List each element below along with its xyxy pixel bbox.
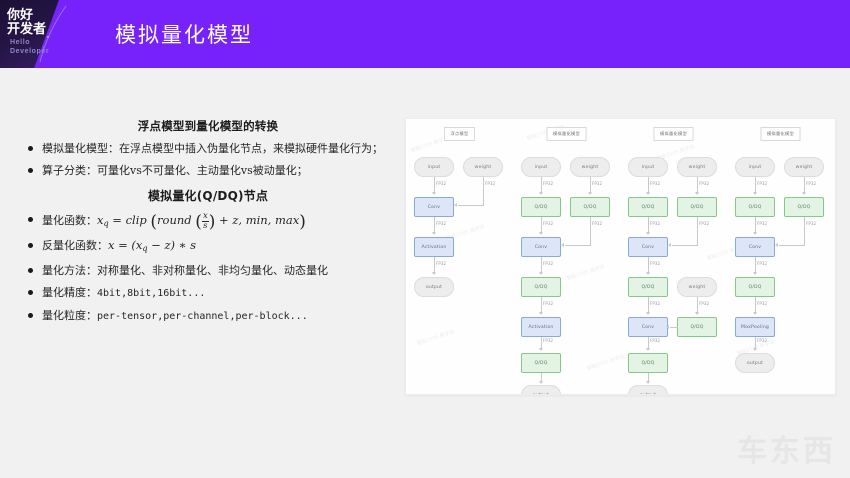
edge-label: FP32 <box>650 338 660 343</box>
edge-label: FP32 <box>543 221 553 226</box>
edge-label: FP32 <box>543 181 553 186</box>
edge-label: FP32 <box>485 181 495 186</box>
logo-line-2: 开发者 <box>7 22 46 36</box>
edge-label: FP32 <box>592 181 602 186</box>
node-conv: Conv <box>414 197 454 217</box>
edge-arrow <box>753 232 757 235</box>
node-qdq: Q/DQ <box>521 277 561 297</box>
node-weight: weight <box>677 157 717 177</box>
section-2-title: 模拟量化(Q/DQ)节点 <box>22 187 394 204</box>
bullet-label: 量化粒度： <box>42 309 97 322</box>
quantization-flow-diagram: 智能2195 新学说 智能2195 新学说 智能2195 新学说 智能2195 … <box>405 118 836 395</box>
edge-label: FP32 <box>650 261 660 266</box>
node-activation: Activation <box>521 317 561 337</box>
list-item: 量化精度：4bit,8bit,16bit... <box>22 285 394 301</box>
edge-label: FP32 <box>543 301 553 306</box>
edge-arrow <box>753 312 757 315</box>
bullet-text: 对称量化、非对称量化、非均匀量化、动态量化 <box>97 264 328 277</box>
edge-arrow <box>539 381 543 384</box>
node-output: output <box>628 385 668 395</box>
edge-label: FP32 <box>436 181 446 186</box>
logo-line-1: 你好 <box>7 8 46 22</box>
node-conv: Conv <box>628 317 668 337</box>
logo-text-cn: 你好 开发者 <box>7 8 46 36</box>
node-weight: weight <box>570 157 610 177</box>
edge-arrow <box>646 272 650 275</box>
edge-label: FP32 <box>699 301 709 306</box>
logo-text-en: Hello Developer <box>10 38 49 56</box>
edge-line <box>672 245 698 246</box>
edge-line <box>779 245 805 246</box>
edge-arrow <box>432 232 436 235</box>
edge-arrow <box>753 272 757 275</box>
edge-arrow <box>802 192 806 195</box>
list-item: 反量化函数：x = (xq − z) ∗ s <box>22 238 394 256</box>
diagram-column-simulated-quant-1: 模拟量化模型 input weight FP32 FP32 Q/DQ Q/DQ … <box>513 119 620 394</box>
dequantization-formula: x = (xq − z) ∗ s <box>108 238 196 252</box>
node-qdq: Q/DQ <box>521 353 561 373</box>
node-conv: Conv <box>521 237 561 257</box>
bullet-label: 模拟量化模型： <box>42 142 119 155</box>
edge-arrow <box>539 232 543 235</box>
edge-arrow <box>646 312 650 315</box>
edge-line <box>565 245 591 246</box>
bullet-text: 在浮点模型中插入伪量化节点，来模拟硬件量化行为； <box>119 142 383 155</box>
node-qdq: Q/DQ <box>784 197 824 217</box>
node-input: input <box>735 157 775 177</box>
column-header: 浮点模型 <box>444 127 476 141</box>
diagram-column-simulated-quant-3: 模拟量化模型 input weight FP32 FP32 Q/DQ Q/DQ … <box>727 119 834 394</box>
edge-label: FP32 <box>543 338 553 343</box>
node-qdq: Q/DQ <box>677 317 717 337</box>
edge-arrow <box>668 243 671 247</box>
node-conv: Conv <box>735 237 775 257</box>
bullet-label: 量化方法： <box>42 264 97 277</box>
edge-arrow <box>539 312 543 315</box>
edge-label: FP32 <box>757 338 767 343</box>
edge-label: FP32 <box>650 301 660 306</box>
node-qdq: Q/DQ <box>677 197 717 217</box>
edge-label: FP32 <box>806 221 816 226</box>
edge-arrow <box>646 381 650 384</box>
brand-logo: 你好 开发者 Hello Developer <box>0 0 72 68</box>
edge-label: FP32 <box>757 301 767 306</box>
node-weight: weight <box>677 277 717 297</box>
edge-label: FP32 <box>757 261 767 266</box>
list-item: 模拟量化模型：在浮点模型中插入伪量化节点，来模拟硬件量化行为； <box>22 141 394 156</box>
edge-arrow <box>666 325 669 329</box>
edge-line <box>483 177 484 205</box>
edge-arrow <box>539 348 543 351</box>
edge-label: FP32 <box>543 261 553 266</box>
list-item: 量化函数：xq = clip (round (xs) + z, min, max… <box>22 212 394 231</box>
edge-line <box>590 217 591 245</box>
list-item: 量化粒度：per-tensor,per-channel,per-block... <box>22 308 394 324</box>
column-header: 模拟量化模型 <box>653 127 694 141</box>
bullet-label: 量化精度： <box>42 286 97 299</box>
quantization-formula: xq = clip (round (xs) + z, min, max) <box>97 213 306 227</box>
node-output: output <box>414 277 454 297</box>
list-item: 量化方法：对称量化、非对称量化、非均匀量化、动态量化 <box>22 263 394 278</box>
edge-arrow <box>695 192 699 195</box>
bullet-text: 可量化vs不可量化、主动量化vs被动量化； <box>97 164 308 177</box>
node-qdq: Q/DQ <box>570 197 610 217</box>
node-qdq: Q/DQ <box>628 353 668 373</box>
node-conv: Conv <box>628 237 668 257</box>
node-qdq: Q/DQ <box>735 277 775 297</box>
content-text-column: 浮点模型到量化模型的转换 模拟量化模型：在浮点模型中插入伪量化节点，来模拟硬件量… <box>22 118 394 331</box>
edge-arrow <box>539 272 543 275</box>
diagram-column-float-model: 浮点模型 input weight FP32 Conv FP32 FP32 Ac… <box>406 119 513 394</box>
header-bar: 你好 开发者 Hello Developer 模拟量化模型 <box>0 0 850 68</box>
node-weight: weight <box>784 157 824 177</box>
edge-label: FP32 <box>806 181 816 186</box>
logo-en-line-1: Hello <box>10 38 49 47</box>
brand-watermark: 车东西 <box>737 426 836 470</box>
node-qdq: Q/DQ <box>735 197 775 217</box>
edge-label: FP32 <box>436 261 446 266</box>
diagram-column-simulated-quant-2: 模拟量化模型 input weight FP32 FP32 Q/DQ Q/DQ … <box>620 119 727 394</box>
edge-arrow <box>695 312 699 315</box>
edge-line <box>804 217 805 245</box>
node-qdq: Q/DQ <box>628 197 668 217</box>
node-input: input <box>628 157 668 177</box>
bullet-text: 4bit,8bit,16bit... <box>97 288 205 299</box>
edge-label: FP32 <box>699 181 709 186</box>
node-weight: weight <box>463 157 503 177</box>
section-1-bullet-list: 模拟量化模型：在浮点模型中插入伪量化节点，来模拟硬件量化行为； 算子分类：可量化… <box>22 141 394 178</box>
edge-label: FP32 <box>650 221 660 226</box>
section-1-title: 浮点模型到量化模型的转换 <box>22 118 394 134</box>
bullet-label: 量化函数： <box>42 214 97 227</box>
edge-arrow <box>432 272 436 275</box>
list-item: 算子分类：可量化vs不可量化、主动量化vs被动量化； <box>22 163 394 178</box>
node-output: output <box>521 385 561 395</box>
edge-arrow <box>753 348 757 351</box>
edge-arrow <box>454 203 457 207</box>
bullet-text: per-tensor,per-channel,per-block... <box>97 311 308 322</box>
node-input: input <box>414 157 454 177</box>
edge-label: FP32 <box>436 221 446 226</box>
bullet-label: 反量化函数： <box>42 239 108 252</box>
logo-en-line-2: Developer <box>10 47 49 56</box>
edge-arrow <box>561 243 564 247</box>
node-activation: Activation <box>414 237 454 257</box>
edge-arrow <box>646 348 650 351</box>
edge-label: FP32 <box>699 221 709 226</box>
edge-label: FP32 <box>757 181 767 186</box>
edge-line <box>458 205 484 206</box>
edge-label: FP32 <box>757 221 767 226</box>
node-input: input <box>521 157 561 177</box>
section-2-bullet-list: 量化函数：xq = clip (round (xs) + z, min, max… <box>22 212 394 324</box>
node-output: output <box>735 353 775 373</box>
edge-arrow <box>646 192 650 195</box>
bullet-label: 算子分类： <box>42 164 97 177</box>
edge-line <box>697 217 698 245</box>
node-qdq: Q/DQ <box>521 197 561 217</box>
node-maxpooling: MaxPooling <box>735 317 775 337</box>
edge-arrow <box>775 243 778 247</box>
column-header: 模拟量化模型 <box>546 127 587 141</box>
edge-line <box>670 327 678 328</box>
page-title: 模拟量化模型 <box>115 0 253 68</box>
edge-arrow <box>646 232 650 235</box>
edge-label: FP32 <box>592 221 602 226</box>
edge-arrow <box>753 192 757 195</box>
edge-arrow <box>588 192 592 195</box>
edge-arrow <box>539 192 543 195</box>
column-header: 模拟量化模型 <box>760 127 801 141</box>
edge-label: FP32 <box>650 181 660 186</box>
edge-arrow <box>432 192 436 195</box>
node-qdq: Q/DQ <box>628 277 668 297</box>
